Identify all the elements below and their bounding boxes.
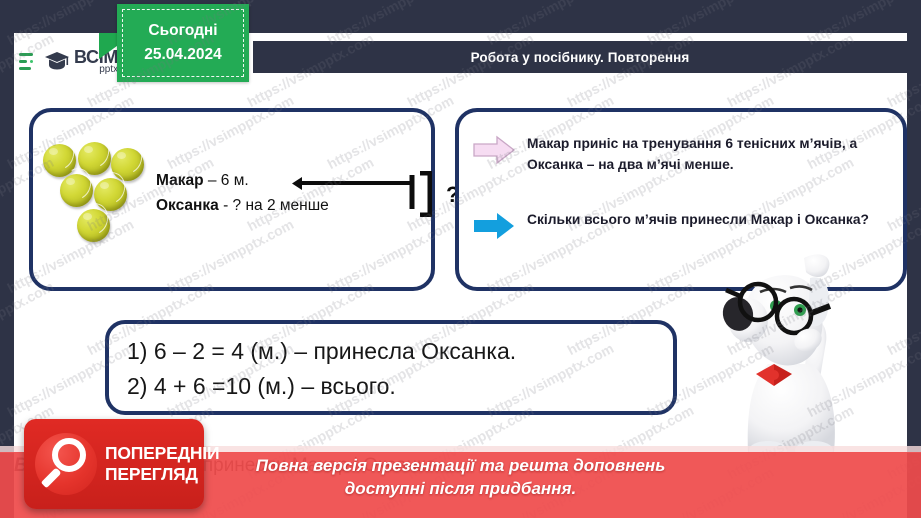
solution-line-2: 2) 4 + 6 =10 (м.) – всього.	[127, 369, 516, 404]
solution-card: 1) 6 – 2 = 4 (м.) – принесла Оксанка. 2)…	[105, 320, 677, 415]
slide-header-bar: Робота у посібнику. Повторення	[253, 41, 907, 73]
scheme-line-makar-name: Макар	[156, 172, 204, 189]
date-badge-value: 25.04.2024	[144, 43, 222, 67]
tennis-ball-icon	[77, 209, 110, 242]
scheme-line-oksanka-name: Оксанка	[156, 197, 219, 214]
solution-line-1: 1) 6 – 2 = 4 (м.) – принесла Оксанка.	[127, 334, 516, 369]
right-arrow-icon	[473, 135, 517, 165]
scheme-line-makar-value: – 6 м.	[204, 172, 249, 189]
tennis-balls-group	[41, 142, 161, 262]
date-badge: Сьогодні 25.04.2024	[117, 4, 249, 82]
graduation-cap-icon	[42, 46, 72, 76]
page-title: Робота у посібнику. Повторення	[471, 50, 690, 65]
curly-brace-icon	[420, 171, 432, 217]
date-badge-label: Сьогодні	[148, 19, 217, 43]
problem-condition-text: Макар приніс на тренування 6 тенісних м’…	[527, 133, 897, 176]
cartoon-dog-with-glasses	[716, 252, 892, 452]
problem-row-condition: Макар приніс на тренування 6 тенісних м’…	[473, 133, 897, 176]
preview-badge-words: ПОПЕРЕДНІЙ ПЕРЕГЛЯД	[105, 443, 219, 484]
right-arrow-icon	[473, 211, 517, 241]
scheme-arrow-brace-graphic: ?	[280, 169, 470, 227]
scheme-card: Макар – 6 м. Оксанка - ? на 2 менше	[29, 108, 435, 291]
preview-badge-line-1: ПОПЕРЕДНІЙ	[105, 443, 219, 464]
preview-badge[interactable]: ПОПЕРЕДНІЙ ПЕРЕГЛЯД	[24, 419, 204, 509]
problem-question-text: Скільки всього м’ячів принесли Макар і О…	[527, 209, 869, 230]
speed-lines-icon	[18, 48, 44, 74]
tennis-ball-icon	[60, 174, 93, 207]
slide-canvas: Робота у посібнику. Повторення ВСІМ pptx…	[0, 0, 921, 518]
magnifier-icon	[35, 433, 97, 495]
left-arrow-icon	[292, 175, 415, 209]
problem-row-question: Скільки всього м’ячів принесли Макар і О…	[473, 209, 869, 241]
preview-badge-line-2: ПЕРЕГЛЯД	[105, 464, 219, 485]
solution-lines: 1) 6 – 2 = 4 (м.) – принесла Оксанка. 2)…	[127, 334, 516, 404]
